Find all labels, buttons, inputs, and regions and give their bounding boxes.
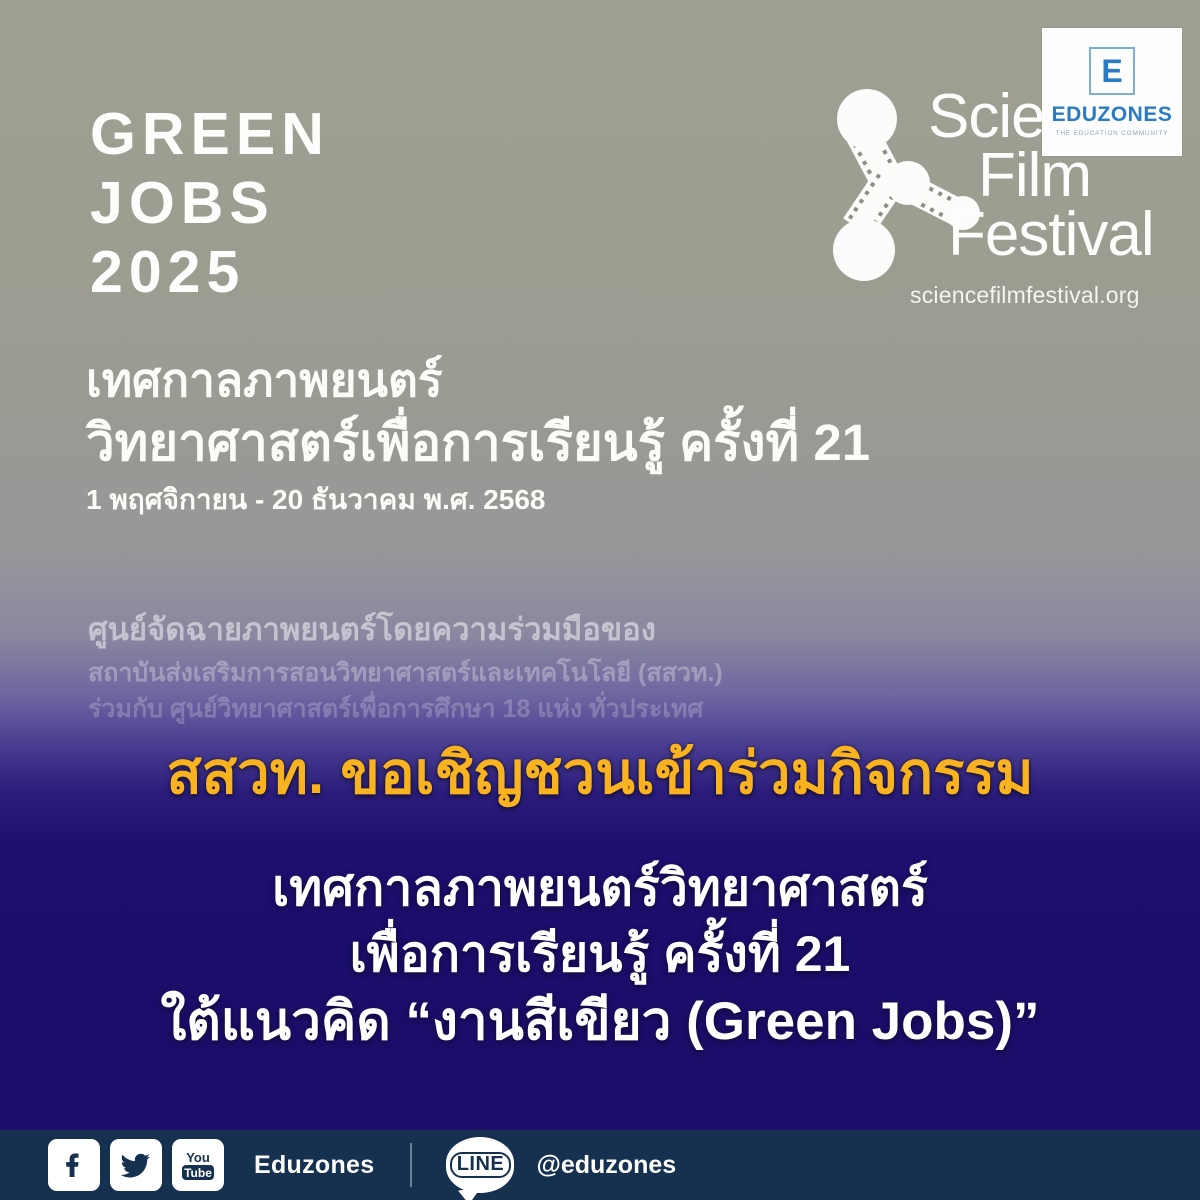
credits-line-1: ศูนย์จัดฉายภาพยนตร์โดยความร่วมมือของ [88,608,723,652]
footer-bar: You Tube Eduzones LINE @eduzones [0,1130,1200,1200]
festival-title-line-1: เทศกาลภาพยนตร์ [86,352,870,410]
line-icon: LINE [446,1137,514,1193]
eduzones-wordmark: EDUZONES [1052,103,1173,127]
credits-line-2: สถาบันส่งเสริมการสอนวิทยาศาสตร์และเทคโนโ… [88,656,723,692]
twitter-icon [118,1147,154,1183]
eduzones-logo: E EDUZONES THE EDUCATION COMMUNITY [1042,28,1182,156]
youtube-icon: You Tube [178,1145,218,1185]
line-contact-group[interactable]: LINE @eduzones [446,1137,676,1193]
brand-name-label: Eduzones [254,1151,374,1180]
line-icon-label: LINE [450,1152,512,1178]
green-jobs-line-1: GREEN [90,100,330,169]
youtube-button[interactable]: You Tube [172,1139,224,1191]
svg-text:You: You [186,1150,210,1165]
svg-text:Tube: Tube [184,1166,212,1180]
main-message-line-3: ใต้แนวคิด “งานสีเขียว (Green Jobs)” [0,987,1200,1057]
facebook-icon [57,1148,91,1182]
eduzones-monogram: E [1089,47,1135,95]
invitation-headline: สสวท. ขอเชิญชวนเข้าร่วมกิจกรรม [0,726,1200,819]
green-jobs-line-2: JOBS [90,169,330,238]
green-jobs-line-3: 2025 [90,238,330,307]
festival-dates: 1 พฤศจิกายน - 20 ธันวาคม พ.ศ. 2568 [86,478,870,522]
sff-word-festival: Festival [928,206,1178,265]
sff-website-url[interactable]: sciencefilmfestival.org [910,282,1140,309]
main-message-block: เทศกาลภาพยนตร์วิทยาศาสตร์ เพื่อการเรียนร… [0,855,1200,1057]
credits-block: ศูนย์จัดฉายภาพยนตร์โดยความร่วมมือของ สถา… [88,608,723,727]
twitter-button[interactable] [110,1139,162,1191]
credits-line-3: ร่วมกับ ศูนย์วิทยาศาสตร์เพื่อการศึกษา 18… [88,692,723,728]
footer-divider [410,1143,412,1187]
main-message-line-2: เพื่อการเรียนรู้ ครั้งที่ 21 [0,921,1200,987]
festival-title-line-2: วิทยาศาสตร์เพื่อการเรียนรู้ ครั้งที่ 21 [86,410,870,476]
eduzones-tagline: THE EDUCATION COMMUNITY [1056,130,1169,137]
facebook-button[interactable] [48,1139,100,1191]
poster-canvas: Science Film Festival sciencefilmfestiva… [0,0,1200,1200]
green-jobs-headline: GREEN JOBS 2025 [90,100,330,307]
social-icon-row: You Tube [48,1139,224,1191]
main-message-line-1: เทศกาลภาพยนตร์วิทยาศาสตร์ [0,855,1200,921]
line-handle-label: @eduzones [536,1151,676,1180]
festival-title-block: เทศกาลภาพยนตร์ วิทยาศาสตร์เพื่อการเรียนร… [86,352,870,522]
